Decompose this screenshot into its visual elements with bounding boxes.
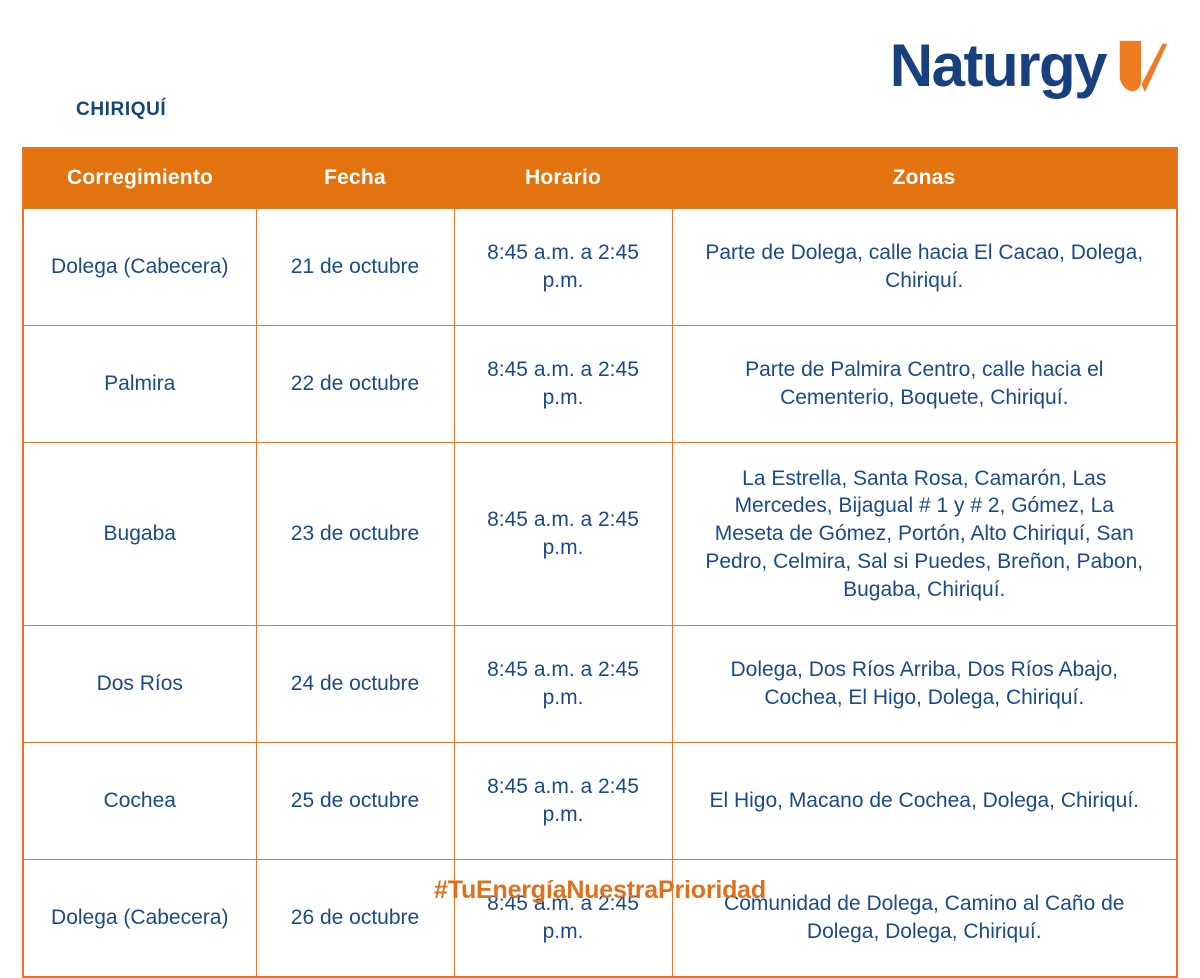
column-header-fecha: Fecha xyxy=(256,148,454,209)
cell-corregimiento: Dolega (Cabecera) xyxy=(23,209,256,326)
table-body: Dolega (Cabecera) 21 de octubre 8:45 a.m… xyxy=(23,209,1177,978)
cell-zonas: El Higo, Macano de Cochea, Dolega, Chiri… xyxy=(672,743,1177,860)
campaign-hashtag: #TuEnergíaNuestraPrioridad xyxy=(0,876,1200,905)
page-title: CHIRIQUÍ xyxy=(76,99,166,121)
cell-zonas: La Estrella, Santa Rosa, Camarón, Las Me… xyxy=(672,443,1177,626)
column-header-zonas: Zonas xyxy=(672,148,1177,209)
cell-fecha: 21 de octubre xyxy=(256,209,454,326)
cell-fecha: 22 de octubre xyxy=(256,326,454,443)
announcement-page: Naturgy CHIRIQUÍ Corregimiento Fecha Hor… xyxy=(0,0,1200,930)
table-row: Bugaba 23 de octubre 8:45 a.m. a 2:45 p.… xyxy=(23,443,1177,626)
table-row: Cochea 25 de octubre 8:45 a.m. a 2:45 p.… xyxy=(23,743,1177,860)
naturgy-logo: Naturgy xyxy=(890,28,1174,104)
cell-horario: 8:45 a.m. a 2:45 p.m. xyxy=(454,209,672,326)
column-header-horario: Horario xyxy=(454,148,672,209)
cell-corregimiento: Bugaba xyxy=(23,443,256,626)
cell-corregimiento: Cochea xyxy=(23,743,256,860)
cell-zonas: Parte de Dolega, calle hacia El Cacao, D… xyxy=(672,209,1177,326)
cell-corregimiento: Dos Ríos xyxy=(23,626,256,743)
cell-fecha: 25 de octubre xyxy=(256,743,454,860)
cell-zonas: Dolega, Dos Ríos Arriba, Dos Ríos Abajo,… xyxy=(672,626,1177,743)
cell-horario: 8:45 a.m. a 2:45 p.m. xyxy=(454,326,672,443)
table-row: Dos Ríos 24 de octubre 8:45 a.m. a 2:45 … xyxy=(23,626,1177,743)
cell-horario: 8:45 a.m. a 2:45 p.m. xyxy=(454,443,672,626)
naturgy-butterfly-icon xyxy=(1112,36,1174,98)
schedule-table: Corregimiento Fecha Horario Zonas Dolega… xyxy=(22,147,1178,978)
table-row: Palmira 22 de octubre 8:45 a.m. a 2:45 p… xyxy=(23,326,1177,443)
table-header: Corregimiento Fecha Horario Zonas xyxy=(23,148,1177,209)
cell-zonas: Parte de Palmira Centro, calle hacia el … xyxy=(672,326,1177,443)
cell-fecha: 23 de octubre xyxy=(256,443,454,626)
naturgy-wordmark: Naturgy xyxy=(890,36,1106,96)
column-header-corregimiento: Corregimiento xyxy=(23,148,256,209)
cell-horario: 8:45 a.m. a 2:45 p.m. xyxy=(454,743,672,860)
cell-corregimiento: Palmira xyxy=(23,326,256,443)
table-header-row: Corregimiento Fecha Horario Zonas xyxy=(23,148,1177,209)
cell-fecha: 24 de octubre xyxy=(256,626,454,743)
cell-horario: 8:45 a.m. a 2:45 p.m. xyxy=(454,626,672,743)
schedule-table-wrapper: Corregimiento Fecha Horario Zonas Dolega… xyxy=(22,147,1178,978)
table-row: Dolega (Cabecera) 21 de octubre 8:45 a.m… xyxy=(23,209,1177,326)
